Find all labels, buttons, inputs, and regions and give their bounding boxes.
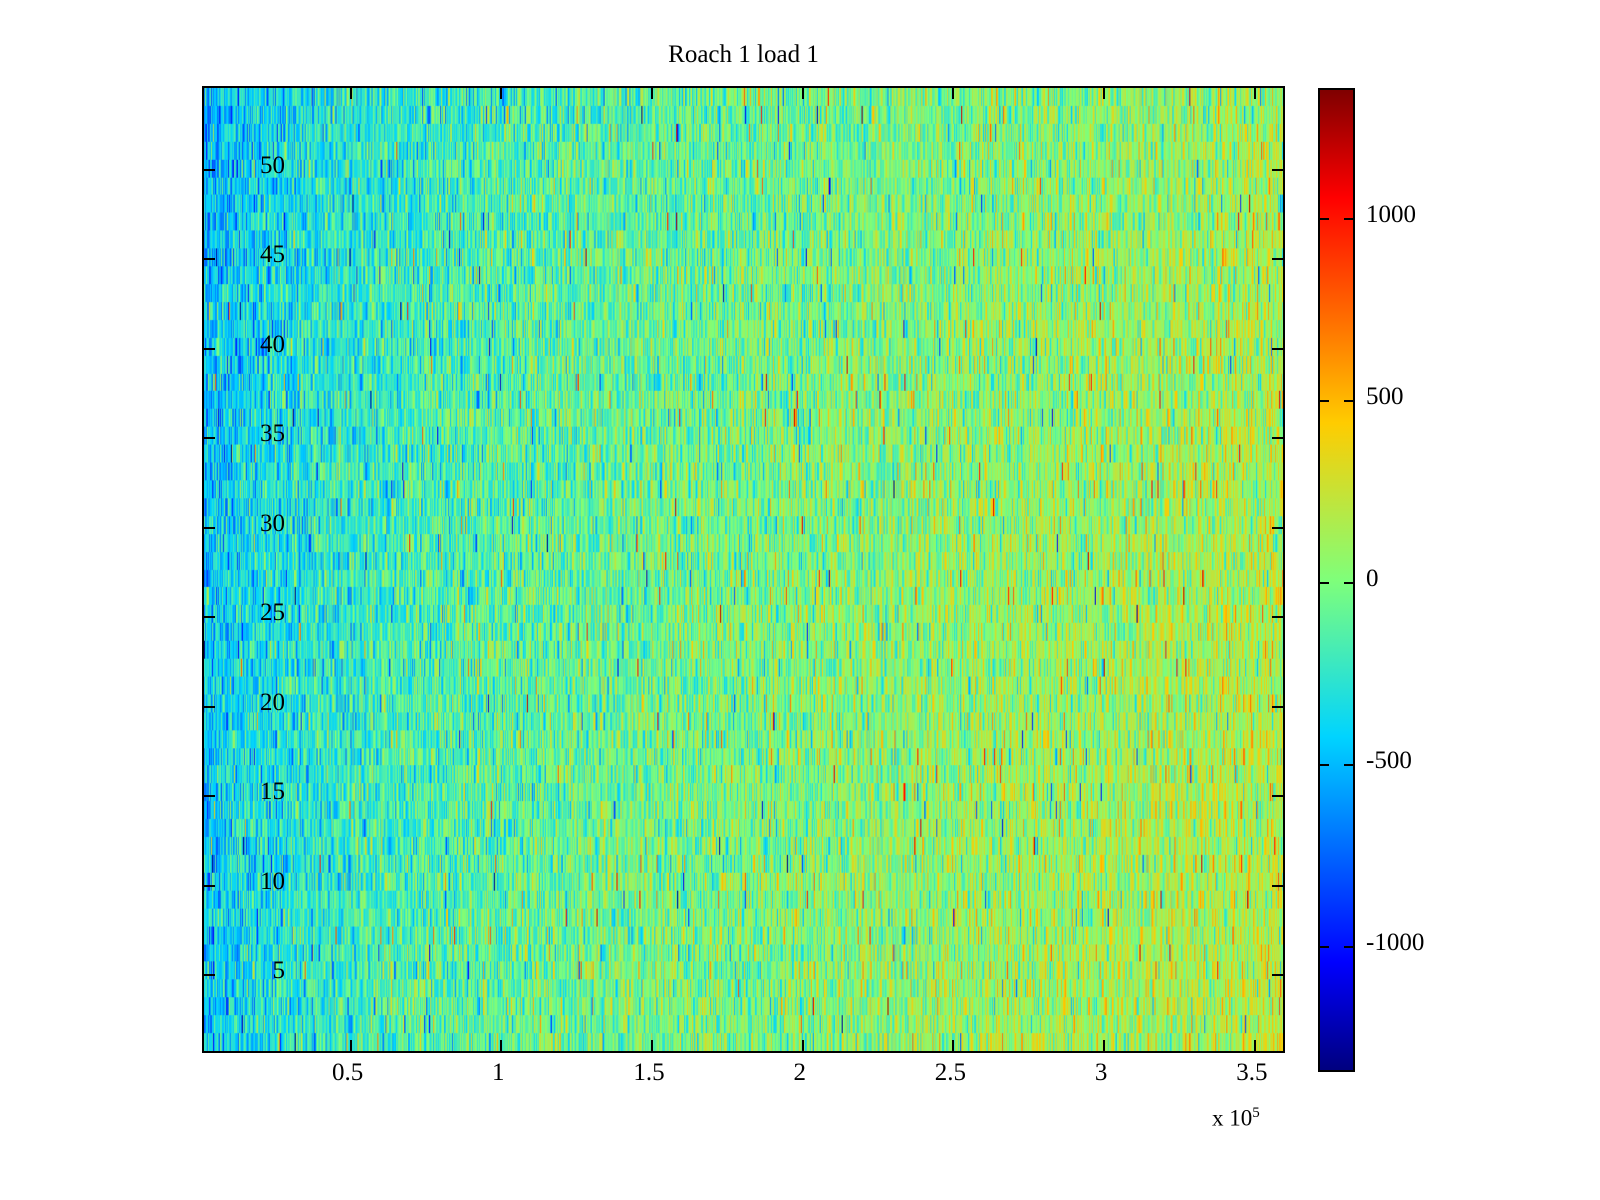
y-tick-label: 40 [225, 332, 285, 357]
y-tick-mark [1272, 706, 1283, 708]
x-tick-mark [651, 88, 653, 99]
y-tick-mark [1272, 527, 1283, 529]
y-tick-mark [204, 527, 215, 529]
y-tick-label: 50 [225, 153, 285, 178]
page-title: Roach 1 load 1 [202, 42, 1285, 67]
colorbar-tick-label: 1000 [1366, 202, 1416, 227]
y-tick-label: 25 [225, 600, 285, 625]
y-tick-mark [204, 258, 215, 260]
y-tick-mark [1272, 169, 1283, 171]
colorbar[interactable] [1318, 88, 1355, 1072]
colorbar-tick-mark [1320, 946, 1329, 948]
colorbar-tick-mark [1344, 764, 1353, 766]
x-tick-label: 1 [458, 1060, 538, 1085]
colorbar-tick-mark [1344, 582, 1353, 584]
y-tick-mark [204, 348, 215, 350]
y-tick-mark [204, 169, 215, 171]
x-tick-mark [651, 1040, 653, 1051]
colorbar-tick-label: 500 [1366, 384, 1404, 409]
y-tick-label: 30 [225, 511, 285, 536]
x-tick-mark [802, 1040, 804, 1051]
colorbar-tick-mark [1344, 218, 1353, 220]
x-tick-mark [1103, 1040, 1105, 1051]
x-tick-label: 3 [1061, 1060, 1141, 1085]
colorbar-tick-label: -1000 [1366, 930, 1424, 955]
x-tick-mark [1103, 88, 1105, 99]
y-tick-label: 45 [225, 242, 285, 267]
x-axis-exponent-label: x 105 [1212, 1105, 1260, 1132]
colorbar-tick-mark [1344, 946, 1353, 948]
x-tick-mark [952, 1040, 954, 1051]
x-tick-mark [500, 88, 502, 99]
x-tick-mark [350, 88, 352, 99]
colorbar-tick-label: -500 [1366, 748, 1412, 773]
x-axis-exponent-power: 5 [1252, 1105, 1260, 1121]
y-tick-mark [1272, 616, 1283, 618]
x-tick-label: 2.5 [910, 1060, 990, 1085]
y-tick-mark [1272, 885, 1283, 887]
x-axis-exponent-prefix: x 10 [1212, 1106, 1252, 1131]
colorbar-tick-mark [1320, 218, 1329, 220]
x-tick-label: 2 [760, 1060, 840, 1085]
y-tick-mark [1272, 974, 1283, 976]
y-tick-label: 10 [225, 869, 285, 894]
colorbar-tick-mark [1344, 400, 1353, 402]
colorbar-tick-mark [1320, 582, 1329, 584]
heatmap-axes[interactable] [202, 86, 1285, 1053]
y-tick-mark [204, 885, 215, 887]
colorbar-tick-label: 0 [1366, 566, 1379, 591]
x-tick-label: 1.5 [609, 1060, 689, 1085]
x-tick-mark [350, 1040, 352, 1051]
y-tick-mark [1272, 348, 1283, 350]
y-tick-label: 15 [225, 779, 285, 804]
y-tick-mark [204, 795, 215, 797]
x-tick-mark [802, 88, 804, 99]
figure-canvas: Roach 1 load 1 5101520253035404550 0.511… [0, 0, 1600, 1200]
y-tick-label: 5 [225, 958, 285, 983]
y-tick-label: 20 [225, 690, 285, 715]
colorbar-tick-mark [1320, 764, 1329, 766]
y-tick-mark [204, 974, 215, 976]
x-tick-mark [1254, 88, 1256, 99]
y-tick-mark [204, 616, 215, 618]
heatmap-image [204, 88, 1283, 1051]
x-tick-label: 3.5 [1212, 1060, 1292, 1085]
x-tick-mark [500, 1040, 502, 1051]
colorbar-tick-mark [1320, 400, 1329, 402]
y-tick-mark [1272, 258, 1283, 260]
x-tick-label: 0.5 [308, 1060, 388, 1085]
colorbar-gradient [1320, 90, 1353, 1070]
y-tick-mark [1272, 795, 1283, 797]
x-tick-mark [952, 88, 954, 99]
y-tick-mark [204, 437, 215, 439]
y-tick-label: 35 [225, 421, 285, 446]
y-tick-mark [204, 706, 215, 708]
x-tick-mark [1254, 1040, 1256, 1051]
y-tick-mark [1272, 437, 1283, 439]
